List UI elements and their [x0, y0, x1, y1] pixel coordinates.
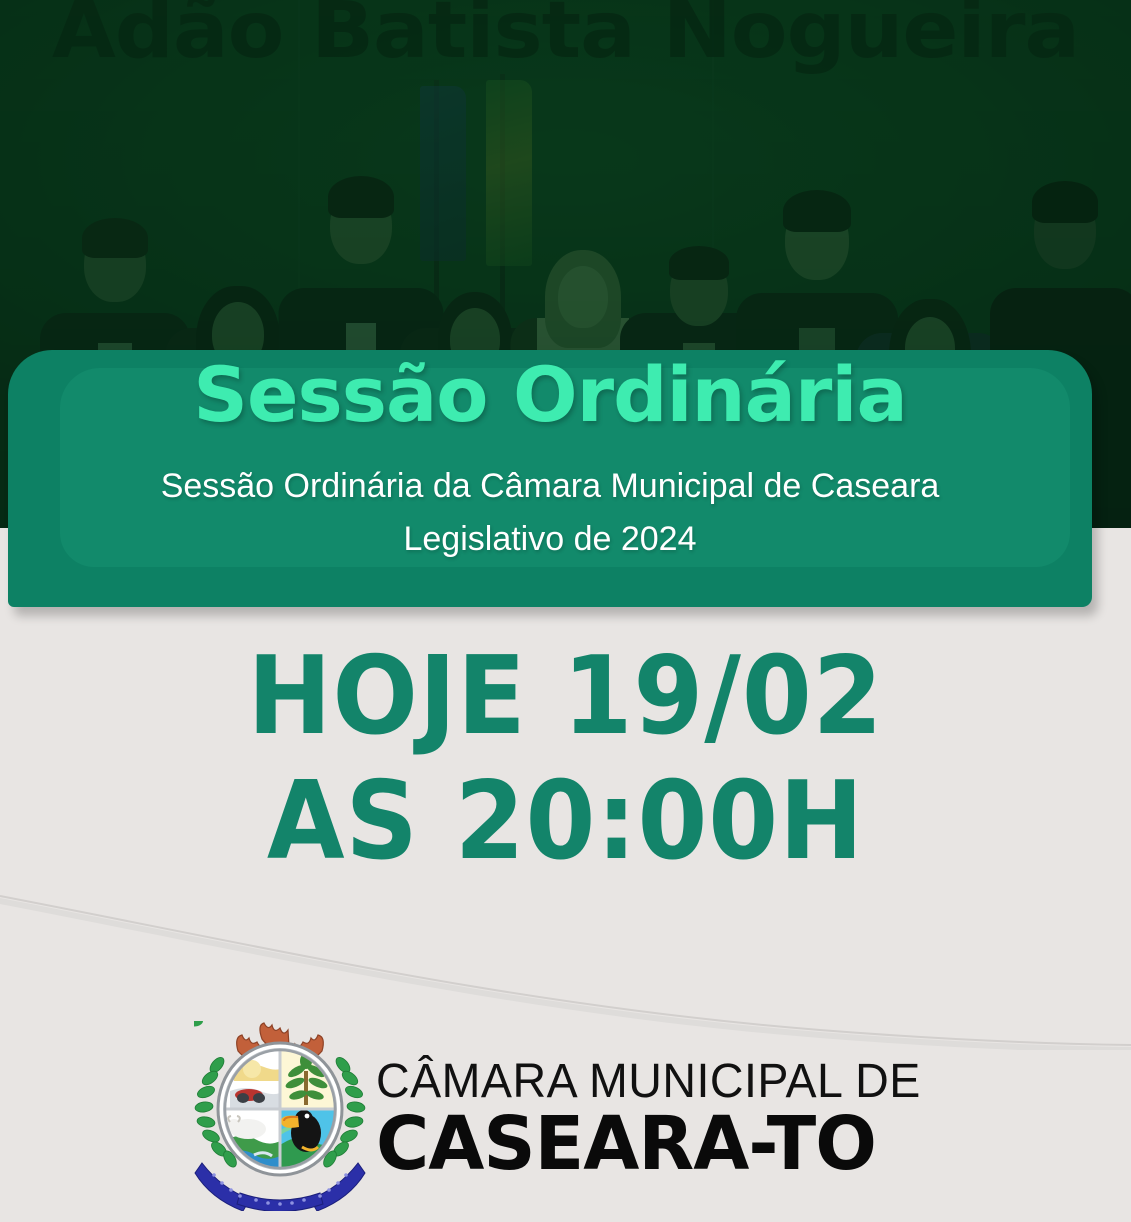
footer-logo-lockup: CÂMARA MUNICIPAL DE CASEARA-TO [0, 1016, 1131, 1216]
session-datetime: HOJE 19/02 AS 20:00H [40, 634, 1092, 885]
brand-line-top: CÂMARA MUNICIPAL DE [376, 1058, 921, 1106]
brand-wordmark: CÂMARA MUNICIPAL DE CASEARA-TO [376, 1050, 938, 1183]
session-time-line: AS 20:00H [40, 759, 1092, 884]
page-title: Sessão Ordinária [8, 356, 1092, 434]
brasao-caseara-icon [194, 1021, 366, 1211]
session-date-line: HOJE 19/02 [40, 634, 1092, 759]
poster-canvas: Adão Batista Nogueira [0, 0, 1131, 1222]
session-subtitle-line2: Legislativo de 2024 [8, 513, 1092, 566]
brand-line-bottom: CASEARA-TO [376, 1106, 926, 1183]
session-subtitle: Sessão Ordinária da Câmara Municipal de … [8, 460, 1092, 565]
session-title-card: Sessão Ordinária Sessão Ordinária da Câm… [8, 350, 1092, 607]
session-subtitle-line1: Sessão Ordinária da Câmara Municipal de … [8, 460, 1092, 513]
